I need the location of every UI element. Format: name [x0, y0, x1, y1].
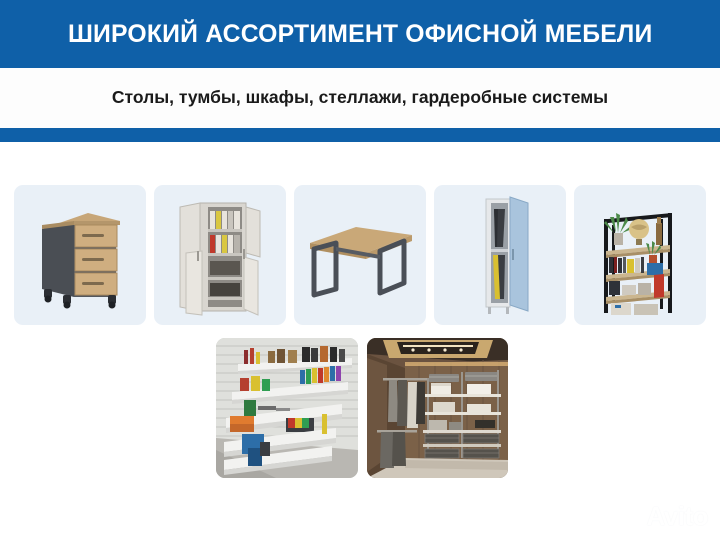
photo-garage-slatwall-shelving[interactable]: [216, 338, 358, 478]
office-desk-loop-legs-icon: [296, 191, 424, 319]
avito-watermark: Avito: [616, 503, 708, 529]
product-card-tall-office-cabinet[interactable]: [154, 185, 286, 325]
interior-photo-row-bottom: [216, 338, 508, 478]
page-subtitle: Столы, тумбы, шкафы, стеллажи, гардеробн…: [112, 89, 608, 107]
subtitle-band: Столы, тумбы, шкафы, стеллажи, гардеробн…: [0, 68, 720, 128]
header-band: ШИРОКИЙ АССОРТИМЕНТ ОФИСНОЙ МЕБЕЛИ: [0, 0, 720, 68]
product-gallery: Avito: [0, 142, 720, 539]
wardrobe-locker-icon: [436, 191, 564, 319]
product-card-mobile-pedestal-drawers[interactable]: [14, 185, 146, 325]
garage-slatwall-shelving-image: [216, 338, 358, 478]
avito-watermark-label: Avito: [646, 503, 708, 529]
product-card-wardrobe-locker[interactable]: [434, 185, 566, 325]
product-card-loft-shelving-unit[interactable]: [574, 185, 706, 325]
mobile-pedestal-drawers-icon: [16, 191, 144, 319]
tall-office-cabinet-icon: [156, 191, 284, 319]
avito-dots-icon: [616, 503, 642, 529]
page-title: ШИРОКИЙ АССОРТИМЕНТ ОФИСНОЙ МЕБЕЛИ: [68, 22, 653, 47]
photo-walk-in-closet[interactable]: [367, 338, 509, 478]
loft-shelving-unit-icon: [576, 191, 704, 319]
product-card-row-top: [14, 185, 706, 325]
accent-divider-bar: [0, 128, 720, 142]
product-card-office-desk-loop-legs[interactable]: [294, 185, 426, 325]
walk-in-closet-image: [367, 338, 509, 478]
